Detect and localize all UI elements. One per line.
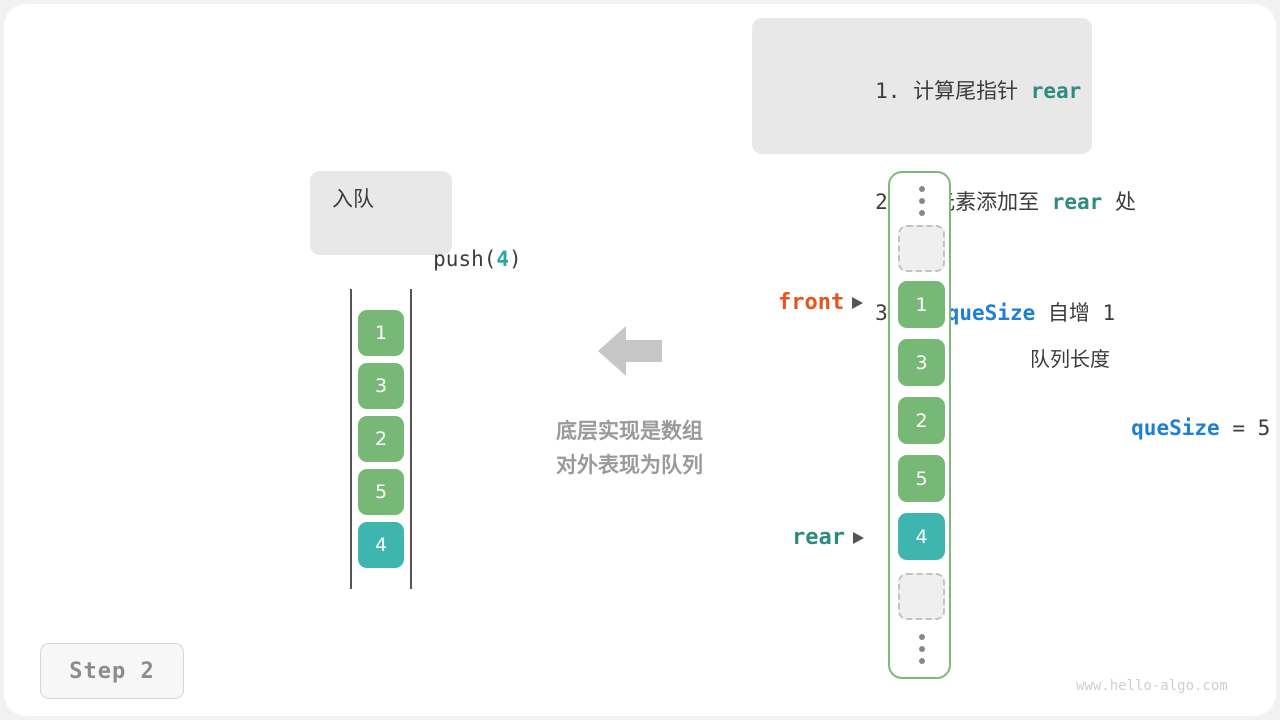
front-pointer-label: front <box>778 290 863 315</box>
front-pointer-arrow-icon <box>852 297 863 309</box>
rear-pointer-label: rear <box>792 525 864 550</box>
ellipsis-icon-bottom <box>898 631 945 667</box>
array-slot-highlighted: 4 <box>898 513 945 560</box>
operation-step-1-keyword: rear <box>1031 79 1082 103</box>
quesize-value: 5 <box>1258 416 1271 440</box>
stack-cell-highlighted: 4 <box>358 522 404 568</box>
implementation-caption-line1: 底层实现是数组 <box>502 414 757 448</box>
rear-pointer-text: rear <box>792 525 845 550</box>
operation-step-2-suffix: 处 <box>1102 190 1136 214</box>
implementation-caption: 底层实现是数组 对外表现为队列 <box>502 414 757 482</box>
operation-step-1: 1. 计算尾指针 rear <box>774 36 1070 147</box>
stack-rail-right <box>410 289 412 589</box>
array-slot-empty <box>898 225 945 272</box>
ellipsis-icon-top <box>898 183 945 219</box>
stack-rail-left <box>350 289 352 589</box>
push-call-suffix: ) <box>509 247 522 271</box>
watermark: www.hello-algo.com <box>1076 678 1228 694</box>
array-slot-empty <box>898 573 945 620</box>
stack-cell: 1 <box>358 310 404 356</box>
operation-steps-box: 1. 计算尾指针 rear 2. 将元素添加至 rear 处 3. 将 queS… <box>752 18 1092 154</box>
implementation-caption-line2: 对外表现为队列 <box>502 448 757 482</box>
screenshot-canvas: 1. 计算尾指针 rear 2. 将元素添加至 rear 处 3. 将 queS… <box>0 0 1280 720</box>
push-call-prefix: push( <box>433 247 496 271</box>
push-title: 入队 <box>332 184 452 214</box>
step-badge-label: Step 2 <box>69 659 154 684</box>
stack-cell: 3 <box>358 363 404 409</box>
stack-cell: 5 <box>358 469 404 515</box>
left-arrow-icon <box>598 324 662 378</box>
operation-step-3-suffix: 自增 1 <box>1035 301 1115 325</box>
front-pointer-text: front <box>778 290 844 315</box>
array-slot: 2 <box>898 397 945 444</box>
array-slot: 3 <box>898 339 945 386</box>
quesize-expression: queSize = 5 <box>1030 374 1270 482</box>
quesize-equals: = <box>1220 416 1258 440</box>
rear-pointer-arrow-icon <box>853 532 864 544</box>
quesize-title: 队列长度 <box>1030 344 1270 374</box>
logical-queue-stack: 1 3 2 5 4 <box>350 289 412 589</box>
operation-step-3-keyword: queSize <box>947 301 1036 325</box>
stack-cell: 2 <box>358 416 404 462</box>
push-call-argument: 4 <box>496 247 509 271</box>
operation-step-2-keyword: rear <box>1052 190 1103 214</box>
push-operation-box: 入队 push(4) <box>310 171 452 255</box>
array-slot: 1 <box>898 281 945 328</box>
quesize-annotation: 队列长度 queSize = 5 <box>1030 344 1270 482</box>
quesize-variable-name: queSize <box>1131 416 1220 440</box>
array-slot: 5 <box>898 455 945 502</box>
step-badge: Step 2 <box>40 643 184 699</box>
array-container: 1 3 2 5 4 <box>888 171 951 679</box>
operation-step-1-prefix: 1. 计算尾指针 <box>875 79 1031 103</box>
content-card: 1. 计算尾指针 rear 2. 将元素添加至 rear 处 3. 将 queS… <box>4 4 1276 716</box>
